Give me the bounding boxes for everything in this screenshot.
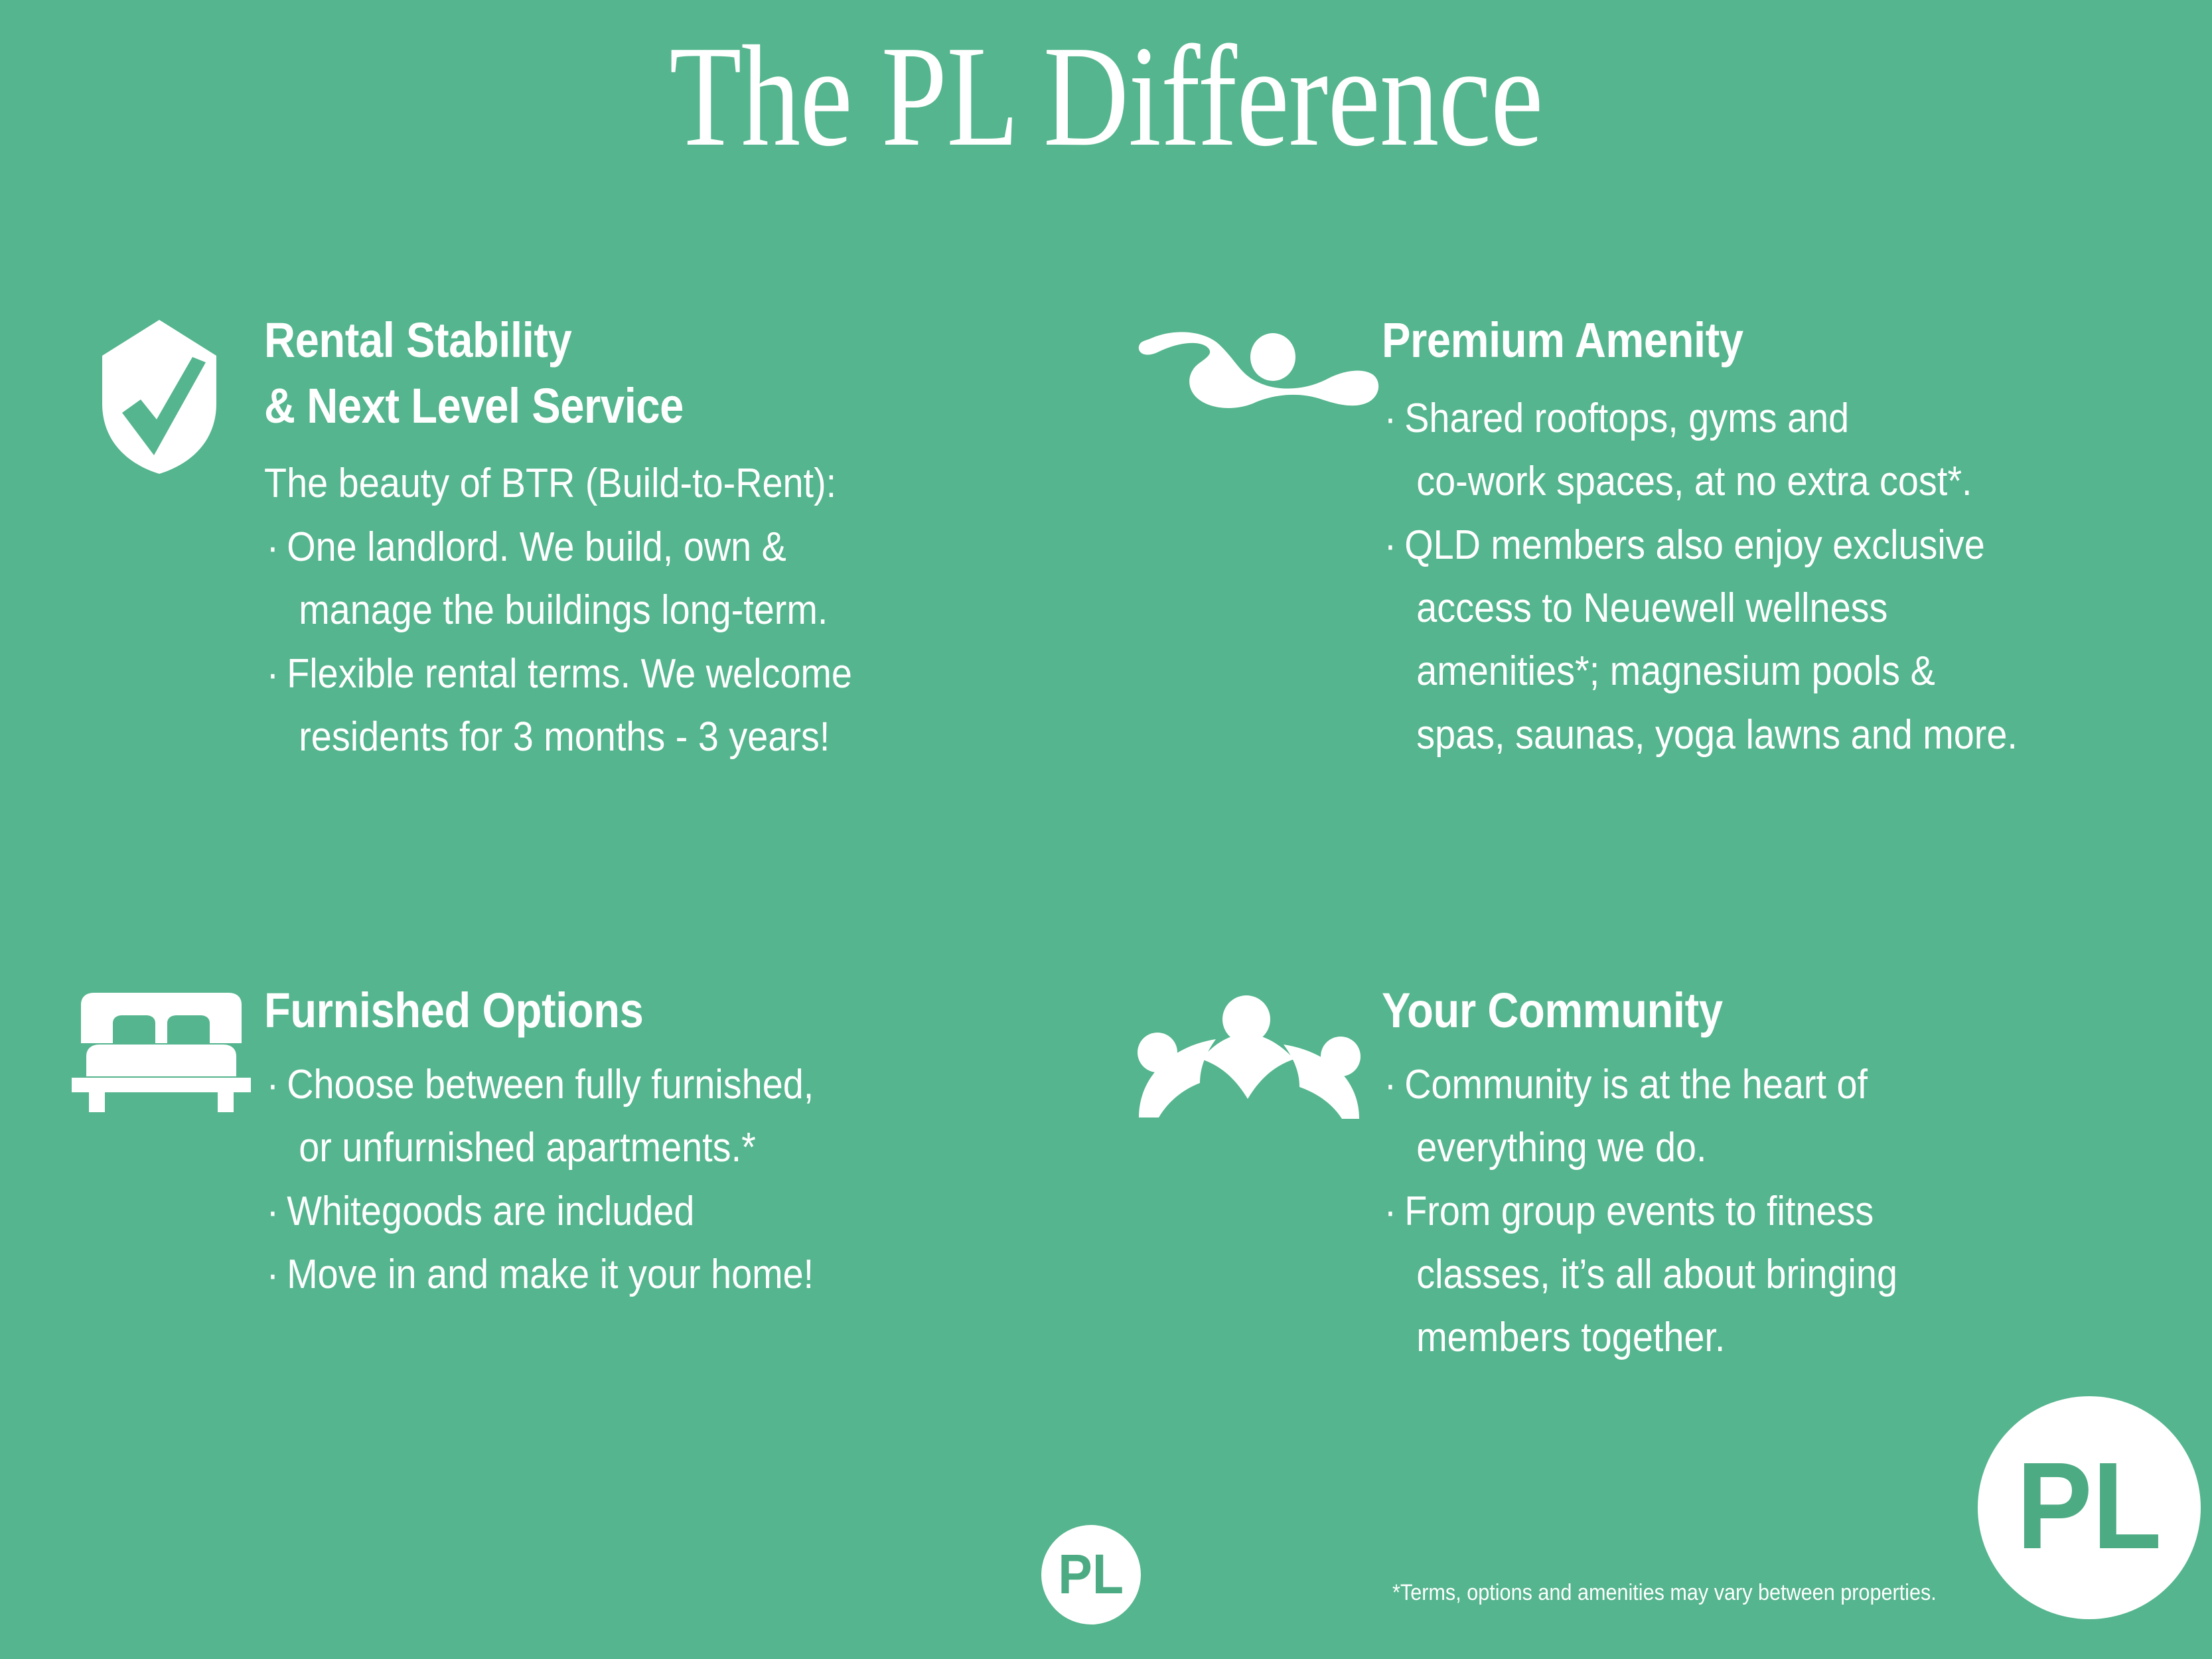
bullet-marker-icon: ·	[1384, 387, 1397, 450]
bullet-marker-icon: ·	[1384, 514, 1397, 577]
shield-check-icon	[100, 317, 219, 476]
list-item: · Choose between fully furnished, or unf…	[264, 1053, 987, 1180]
list-item-line: spas, saunas, yoga lawns and more.	[1404, 703, 2099, 766]
bed-icon	[72, 993, 251, 1112]
list-item: · Community is at the heart of everythin…	[1382, 1053, 2099, 1180]
list-item: · Shared rooftops, gyms and co-work spac…	[1382, 387, 2099, 514]
feature-body: Furnished Options · Choose between fully…	[264, 982, 1067, 1306]
pl-logo-large-text: PL	[2017, 1445, 2162, 1568]
list-item-line: or unfurnished apartments.*	[287, 1116, 987, 1179]
feature-heading-line: Your Community	[1382, 982, 2083, 1040]
bullet-marker-icon: ·	[1384, 1053, 1397, 1116]
bullet-marker-icon: ·	[267, 642, 279, 705]
list-item-line: classes, it’s all about bringing	[1404, 1243, 2099, 1306]
feature-body: Your Community · Community is at the hea…	[1382, 982, 2178, 1370]
feature-body: Rental Stability & Next Level Service Th…	[264, 312, 1100, 769]
list-item: · Move in and make it your home!	[264, 1243, 987, 1306]
list-item-line: Flexible rental terms. We welcome	[287, 642, 1017, 705]
list-item: · From group events to fitness classes, …	[1382, 1180, 2099, 1370]
list-item-line: Whitegoods are included	[287, 1180, 987, 1243]
bullet-marker-icon: ·	[1384, 1180, 1397, 1243]
feature-heading-line: & Next Level Service	[264, 378, 1000, 435]
pl-logo-small: PL	[1041, 1525, 1141, 1624]
list-item-line: co-work spaces, at no extra cost*.	[1404, 450, 2099, 513]
list-item-line: Move in and make it your home!	[287, 1243, 987, 1306]
list-item-line: access to Neuewell wellness	[1404, 577, 2099, 640]
feature-body: Premium Amenity · Shared rooftops, gyms …	[1382, 312, 2178, 766]
disclaimer-text: *Terms, options and amenities may vary b…	[1392, 1578, 1937, 1607]
feature-bullet-list: · Choose between fully furnished, or unf…	[264, 1053, 1067, 1307]
list-item-line: everything we do.	[1404, 1116, 2099, 1179]
feature-lead-text: The beauty of BTR (Build-to-Rent):	[264, 452, 1017, 515]
list-item-line: QLD members also enjoy exclusive	[1404, 514, 2099, 577]
list-item-line: Choose between fully furnished,	[287, 1053, 987, 1116]
page-title: The PL Difference	[199, 21, 2013, 173]
list-item-line: Shared rooftops, gyms and	[1404, 387, 2099, 450]
feature-bullet-list: · Community is at the heart of everythin…	[1382, 1053, 2178, 1370]
bullet-marker-icon: ·	[267, 1053, 279, 1116]
list-item-line: One landlord. We build, own &	[287, 516, 1017, 579]
bullet-marker-icon: ·	[267, 516, 279, 579]
list-item: · One landlord. We build, own & manage t…	[264, 516, 1017, 642]
list-item-line: amenities*; magnesium pools &	[1404, 640, 2099, 703]
feature-heading-line: Furnished Options	[264, 982, 971, 1040]
bullet-marker-icon: ·	[267, 1243, 279, 1306]
pl-logo-large: PL	[1978, 1396, 2201, 1619]
community-people-icon	[1136, 993, 1362, 1119]
swimmer-icon	[1136, 330, 1382, 410]
list-item-line: Community is at the heart of	[1404, 1053, 2099, 1116]
list-item-line: residents for 3 months - 3 years!	[287, 705, 1017, 768]
list-item: · Whitegoods are included	[264, 1180, 987, 1243]
list-item-line: From group events to fitness	[1404, 1180, 2099, 1243]
list-item-line: manage the buildings long-term.	[287, 579, 1017, 642]
feature-bullet-list: · One landlord. We build, own & manage t…	[264, 516, 1100, 769]
feature-bullet-list: · Shared rooftops, gyms and co-work spac…	[1382, 387, 2178, 767]
slide-canvas: The PL Difference Rental Stability & Nex…	[0, 0, 2212, 1659]
bullet-marker-icon: ·	[267, 1180, 279, 1243]
pl-logo-small-text: PL	[1059, 1546, 1124, 1602]
list-item-line: members together.	[1404, 1306, 2099, 1369]
feature-heading-line: Premium Amenity	[1382, 312, 2083, 370]
feature-heading-line: Rental Stability	[264, 312, 1000, 370]
list-item: · QLD members also enjoy exclusive acces…	[1382, 514, 2099, 767]
list-item: · Flexible rental terms. We welcome resi…	[264, 642, 1017, 769]
